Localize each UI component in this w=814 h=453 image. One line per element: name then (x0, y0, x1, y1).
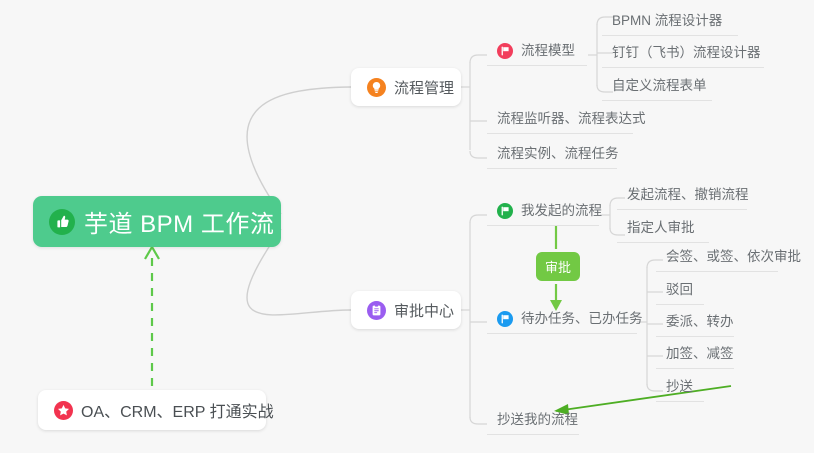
thumbs-up-icon (49, 209, 75, 235)
leaf-flow-model[interactable]: 流程模型 (487, 42, 587, 66)
mindmap-canvas: 芋道 BPM 工作流 流程管理 审批中心 (0, 0, 814, 453)
leaf-bpmn-designer[interactable]: BPMN 流程设计器 (602, 12, 738, 36)
leaf-label-flow-model: 流程模型 (521, 42, 575, 60)
leaf-reject[interactable]: 驳回 (656, 281, 704, 305)
star-icon (54, 401, 73, 420)
leaf-label-todo-done-tasks: 待办任务、已办任务 (521, 310, 643, 328)
integration-node[interactable]: OA、CRM、ERP 打通实战 (38, 390, 266, 430)
leaf-flow-listener[interactable]: 流程监听器、流程表达式 (487, 110, 633, 134)
flag-red-icon (497, 43, 513, 59)
leaf-label-my-initiated: 我发起的流程 (521, 202, 602, 220)
leaf-add-remove-sign[interactable]: 加签、减签 (656, 345, 734, 369)
root-node[interactable]: 芋道 BPM 工作流 (33, 196, 281, 247)
leaf-delegate-transfer[interactable]: 委派、转办 (656, 313, 734, 337)
lightbulb-icon (367, 78, 386, 97)
branch-label-flow-management: 流程管理 (394, 77, 454, 98)
leaf-custom-form[interactable]: 自定义流程表单 (602, 77, 712, 101)
leaf-my-initiated[interactable]: 我发起的流程 (487, 202, 599, 226)
leaf-dingtalk-designer[interactable]: 钉钉（飞书）流程设计器 (602, 44, 764, 68)
leaf-flow-instance[interactable]: 流程实例、流程任务 (487, 145, 617, 169)
leaf-cc-to-me[interactable]: 抄送我的流程 (487, 411, 579, 435)
branch-label-approval-center: 审批中心 (394, 300, 454, 321)
integration-node-label: OA、CRM、ERP 打通实战 (81, 398, 274, 422)
leaf-countersign[interactable]: 会签、或签、依次审批 (656, 248, 778, 272)
leaf-start-cancel-flow[interactable]: 发起流程、撤销流程 (617, 186, 747, 210)
flag-green-icon (497, 203, 513, 219)
leaf-designated-approver[interactable]: 指定人审批 (617, 219, 709, 243)
flag-blue-icon (497, 311, 513, 327)
leaf-cc[interactable]: 抄送 (656, 378, 704, 402)
clipboard-icon (367, 301, 386, 320)
root-label: 芋道 BPM 工作流 (84, 204, 274, 239)
branch-node-approval-center[interactable]: 审批中心 (351, 291, 461, 329)
branch-node-flow-management[interactable]: 流程管理 (351, 68, 461, 106)
annotation-chip-approve: 审批 (536, 252, 580, 281)
leaf-todo-done-tasks[interactable]: 待办任务、已办任务 (487, 310, 637, 334)
